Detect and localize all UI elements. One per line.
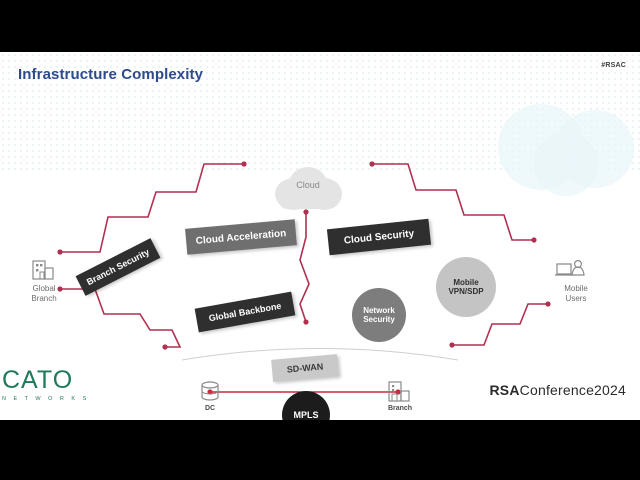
building-icon [30,258,56,282]
label-line-1: Mobile [564,284,588,293]
box-label: Cloud Acceleration [195,228,286,247]
conference-year: Conference2024 [520,382,626,398]
label-line-2: Security [363,315,395,324]
label-line-1: Global [32,284,55,293]
global-branch-label: Global Branch [16,284,72,304]
endpoint-mobile-users [554,258,586,287]
label-line-1: Mobile [453,278,478,287]
slide-canvas: Infrastructure Complexity #RSAC [0,52,640,420]
label-line-2: Branch [31,294,56,303]
rsa-mark: RSA [490,382,520,398]
building-icon [386,380,412,404]
branch-label: Branch [380,405,420,414]
cato-wordmark: CATO [2,366,89,395]
label-line-2: VPN/SDP [448,287,483,296]
box-label: Cloud Security [343,228,414,246]
cloud-label: Cloud [272,180,344,190]
mobile-users-label: Mobile Users [548,284,604,304]
box-label: SD-WAN [286,361,323,374]
dc-label: DC [192,405,228,414]
infrastructure-diagram: Cloud Global Branch [0,52,640,420]
circle-mobile-vpn-sdp[interactable]: Mobile VPN/SDP [436,257,496,317]
label-line-1: MPLS [293,410,318,420]
laptop-user-icon [554,258,586,282]
cloud-shape: Cloud [272,164,344,212]
label-line-1: Network [363,306,395,315]
video-frame: Infrastructure Complexity #RSAC [0,0,640,480]
rsa-conference-logo: RSAConference2024 [490,382,627,398]
endpoint-global-branch [30,258,56,287]
label-line-2: Users [566,294,587,303]
circle-network-security[interactable]: Network Security [352,288,406,342]
cato-subtitle: N E T W O R K S [2,396,89,402]
cato-networks-logo: CATO N E T W O R K S [2,366,89,402]
database-icon [198,380,222,404]
